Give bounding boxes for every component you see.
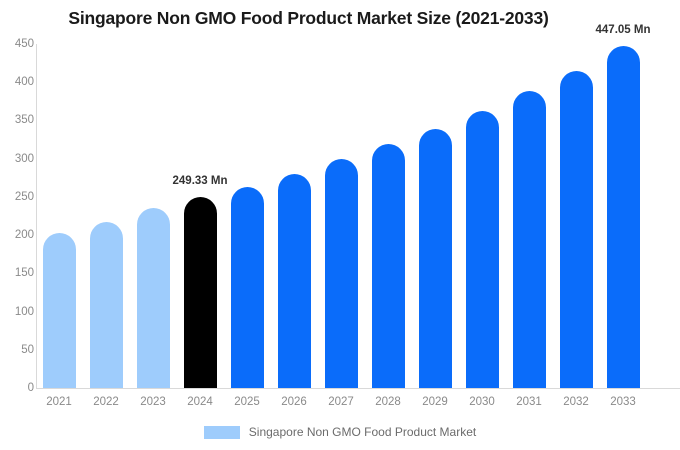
bar-value-label-2033: 447.05 Mn <box>596 24 651 36</box>
bar-value-label-2024: 249.33 Mn <box>173 175 228 187</box>
legend-item-label: Singapore Non GMO Food Product Market <box>249 425 476 439</box>
bar-2031[interactable] <box>513 91 546 388</box>
bar-2033[interactable] <box>607 46 640 388</box>
y-axis-tick-label: 400 <box>0 76 34 88</box>
bar-2024[interactable] <box>184 197 217 388</box>
y-axis-tick-label: 250 <box>0 191 34 203</box>
y-axis-tick-label: 350 <box>0 114 34 126</box>
bar-chart: Singapore Non GMO Food Product Market Si… <box>0 0 680 450</box>
bar-2026[interactable] <box>278 174 311 388</box>
bar-2030[interactable] <box>466 111 499 388</box>
y-axis-line <box>36 44 37 389</box>
chart-legend: Singapore Non GMO Food Product Market <box>0 425 680 439</box>
y-axis-tick-label: 450 <box>0 38 34 50</box>
y-axis-tick-label: 300 <box>0 153 34 165</box>
bar-2022[interactable] <box>90 222 123 388</box>
y-axis-tick-label: 100 <box>0 306 34 318</box>
bar-2032[interactable] <box>560 71 593 388</box>
y-axis-tick-label: 200 <box>0 229 34 241</box>
bar-2029[interactable] <box>419 129 452 388</box>
x-axis-line <box>36 388 680 389</box>
x-axis-tick-label: 2033 <box>593 396 653 408</box>
bar-2028[interactable] <box>372 144 405 388</box>
y-axis-tick-label: 150 <box>0 267 34 279</box>
legend-swatch-icon <box>204 426 240 439</box>
y-axis-tick-label: 50 <box>0 344 34 356</box>
bar-2023[interactable] <box>137 208 170 388</box>
bar-2021[interactable] <box>43 233 76 388</box>
y-axis-tick-label: 0 <box>0 382 34 394</box>
bar-2027[interactable] <box>325 159 358 388</box>
plot-area: 450400350300250200150100500 249.33 Mn447… <box>36 44 680 389</box>
bar-2025[interactable] <box>231 187 264 388</box>
chart-title: Singapore Non GMO Food Product Market Si… <box>0 8 617 29</box>
